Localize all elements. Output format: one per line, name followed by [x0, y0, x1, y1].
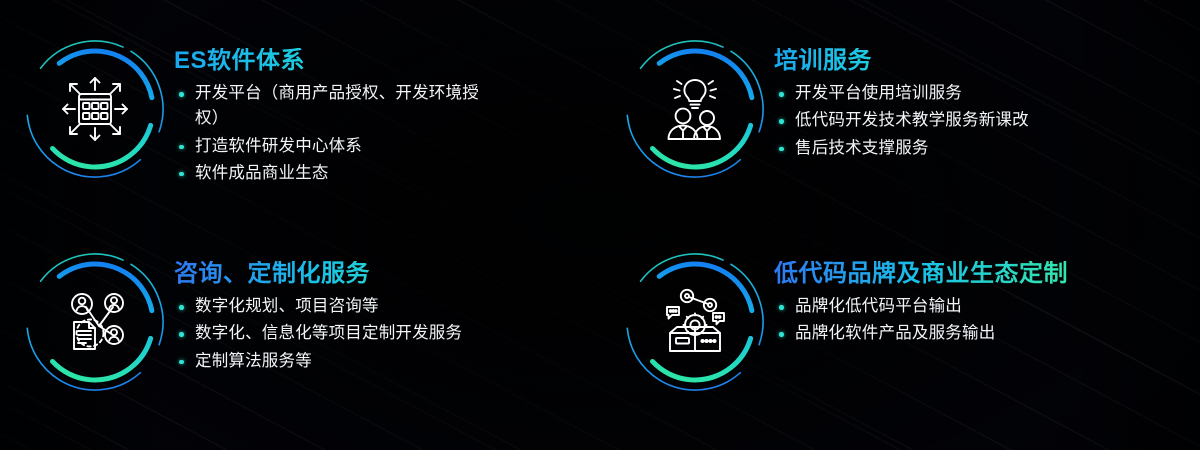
card-training-service[interactable]: 培训服务 开发平台使用培训服务 低代码开发技术教学服务新课改 售后技术支撑服务 [600, 0, 1200, 225]
list-item: 数字化规划、项目咨询等 [174, 294, 462, 319]
medallion-1 [20, 34, 170, 184]
card-body-3: 咨询、定制化服务 数字化规划、项目咨询等 数字化、信息化等项目定制开发服务 定制… [174, 247, 462, 376]
document-network-icon [58, 285, 132, 359]
card-title-3: 咨询、定制化服务 [174, 261, 462, 287]
card-bullets-3: 数字化规划、项目咨询等 数字化、信息化等项目定制开发服务 定制算法服务等 [174, 294, 462, 373]
list-item: 开发平台（商用产品授权、开发环境授权） [174, 81, 504, 131]
slide-canvas: ES软件体系 开发平台（商用产品授权、开发环境授权） 打造软件研发中心体系 软件… [0, 0, 1200, 450]
medallion-4 [620, 247, 770, 397]
grid-expand-icon [58, 72, 132, 146]
card-body-1: ES软件体系 开发平台（商用产品授权、开发环境授权） 打造软件研发中心体系 软件… [174, 34, 504, 188]
box-gear-nodes-icon [658, 285, 732, 359]
card-es-software-system[interactable]: ES软件体系 开发平台（商用产品授权、开发环境授权） 打造软件研发中心体系 软件… [0, 0, 600, 225]
list-item: 品牌化软件产品及服务输出 [774, 321, 1068, 346]
card-lowcode-brand-ecosystem[interactable]: 低代码品牌及商业生态定制 品牌化低代码平台输出 品牌化软件产品及服务输出 [600, 225, 1200, 450]
card-bullets-1: 开发平台（商用产品授权、开发环境授权） 打造软件研发中心体系 软件成品商业生态 [174, 81, 504, 185]
list-item: 打造软件研发中心体系 [174, 134, 504, 159]
medallion-2 [620, 34, 770, 184]
list-item: 品牌化低代码平台输出 [774, 294, 1068, 319]
card-bullets-2: 开发平台使用培训服务 低代码开发技术教学服务新课改 售后技术支撑服务 [774, 81, 1029, 160]
list-item: 开发平台使用培训服务 [774, 81, 1029, 106]
card-body-4: 低代码品牌及商业生态定制 品牌化低代码平台输出 品牌化软件产品及服务输出 [774, 247, 1068, 349]
card-grid: ES软件体系 开发平台（商用产品授权、开发环境授权） 打造软件研发中心体系 软件… [0, 0, 1200, 450]
card-bullets-4: 品牌化低代码平台输出 品牌化软件产品及服务输出 [774, 294, 1068, 346]
list-item: 定制算法服务等 [174, 349, 462, 374]
card-title-4: 低代码品牌及商业生态定制 [774, 261, 1068, 287]
card-title-2: 培训服务 [774, 48, 1029, 74]
card-consulting-customization[interactable]: 咨询、定制化服务 数字化规划、项目咨询等 数字化、信息化等项目定制开发服务 定制… [0, 225, 600, 450]
list-item: 低代码开发技术教学服务新课改 [774, 108, 1029, 133]
card-title-1: ES软件体系 [174, 48, 504, 74]
list-item: 数字化、信息化等项目定制开发服务 [174, 321, 462, 346]
list-item: 软件成品商业生态 [174, 161, 504, 186]
list-item: 售后技术支撑服务 [774, 136, 1029, 161]
card-body-2: 培训服务 开发平台使用培训服务 低代码开发技术教学服务新课改 售后技术支撑服务 [774, 34, 1029, 163]
medallion-3 [20, 247, 170, 397]
lightbulb-people-icon [658, 72, 732, 146]
